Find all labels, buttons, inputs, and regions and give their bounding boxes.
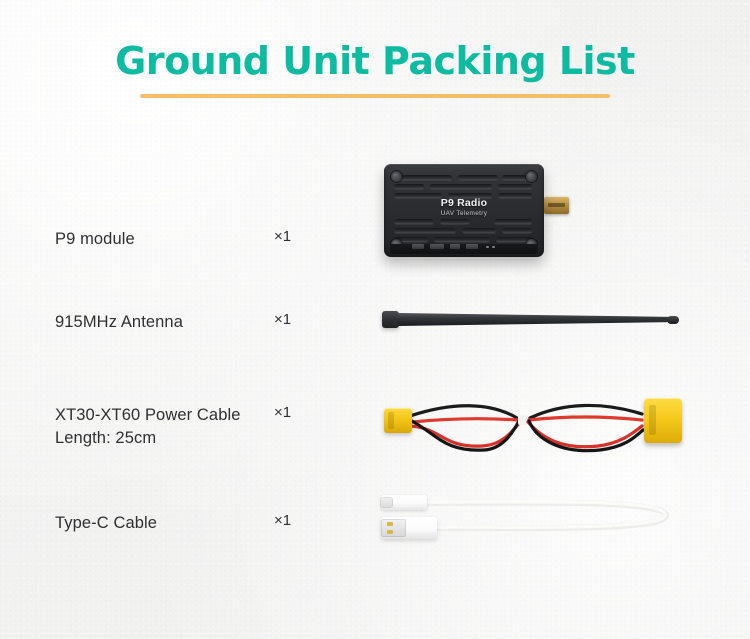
port-icon — [412, 244, 424, 249]
antenna-connector-base — [382, 311, 399, 328]
led-indicator-icon — [486, 246, 489, 249]
usb-a-pin-icon — [387, 530, 393, 534]
port-icon — [466, 244, 478, 249]
item-image-antenna — [382, 300, 722, 340]
led-indicator-icon — [492, 246, 495, 249]
antenna-rod — [398, 313, 670, 326]
item-label: P9 module — [55, 228, 270, 251]
page-title: Ground Unit Packing List — [0, 42, 750, 80]
module-body: P9 Radio UAV Telemetry — [384, 164, 544, 257]
screw-icon — [526, 171, 537, 182]
item-quantity: ×1 — [274, 512, 291, 529]
xt30-connector-icon — [384, 408, 412, 433]
port-icon — [450, 244, 460, 249]
usb-a-shield — [381, 519, 406, 537]
p9-module-illustration: P9 Radio UAV Telemetry — [370, 154, 570, 269]
usb-a-pin-icon — [387, 522, 393, 526]
power-cable-illustration — [382, 384, 682, 464]
item-image-power-cable — [382, 384, 722, 464]
antenna-tip — [667, 316, 679, 324]
item-name: Type-C Cable — [55, 514, 157, 532]
item-quantity: ×1 — [274, 228, 291, 245]
title-underline — [140, 94, 610, 98]
item-name: XT30-XT60 Power Cable — [55, 406, 241, 424]
item-label: Type-C Cable — [55, 512, 270, 535]
module-heatsink-slots — [390, 173, 538, 243]
item-image-p9-module: P9 Radio UAV Telemetry — [370, 154, 710, 269]
screw-icon — [391, 171, 402, 182]
item-label: XT30-XT60 Power Cable Length: 25cm — [55, 404, 270, 450]
usb-c-tip — [380, 497, 393, 508]
item-image-type-c-cable — [378, 485, 718, 555]
xt60-connector-icon — [644, 398, 682, 443]
module-bottom-edge — [390, 244, 538, 254]
header: Ground Unit Packing List — [0, 42, 750, 98]
item-name: P9 module — [55, 230, 135, 248]
item-sublabel: Length: 25cm — [55, 427, 270, 450]
packing-list-page: Ground Unit Packing List P9 module ×1 — [0, 0, 750, 639]
power-cable-wires — [382, 384, 682, 464]
sma-connector-icon — [544, 197, 569, 214]
antenna-illustration — [382, 300, 692, 340]
port-icon — [430, 244, 444, 249]
item-quantity: ×1 — [274, 404, 291, 421]
item-name: 915MHz Antenna — [55, 313, 183, 331]
item-quantity: ×1 — [274, 311, 291, 328]
item-label: 915MHz Antenna — [55, 311, 270, 334]
type-c-cable-illustration — [378, 485, 678, 555]
